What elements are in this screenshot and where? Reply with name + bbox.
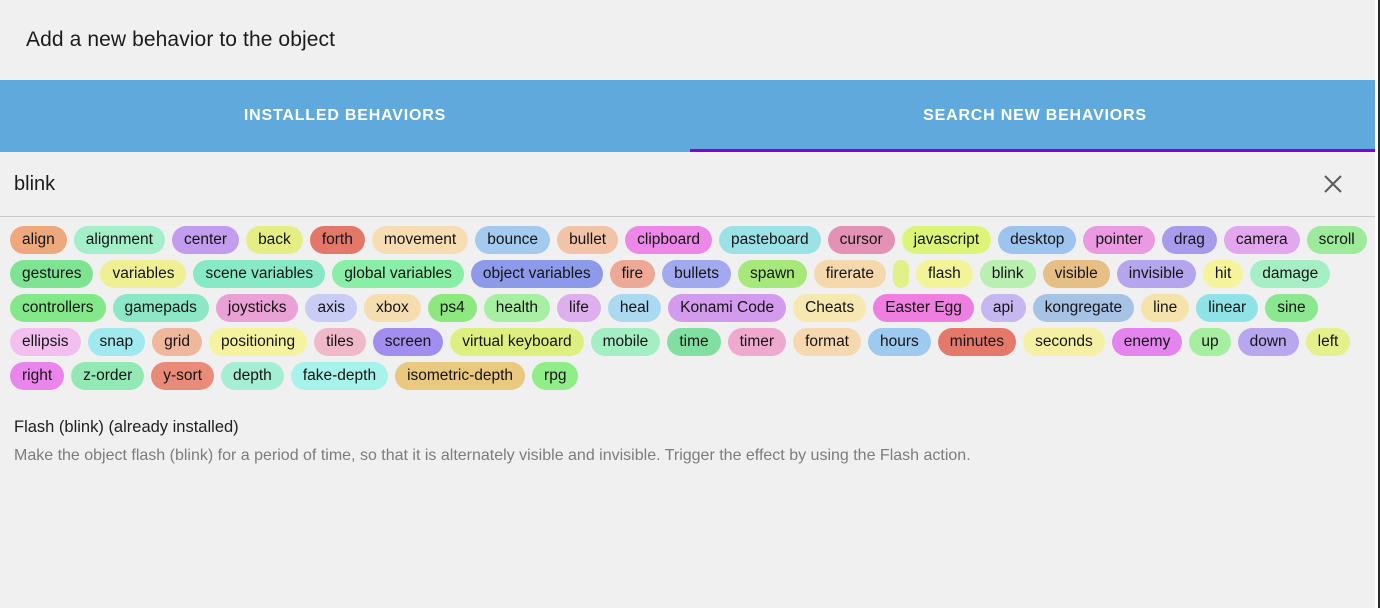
- tag-chip[interactable]: minutes: [938, 328, 1016, 356]
- close-icon[interactable]: [1318, 169, 1348, 199]
- tag-chip[interactable]: scene variables: [193, 260, 325, 288]
- tag-chip[interactable]: left: [1306, 328, 1351, 356]
- tag-cloud: alignalignmentcenterbackforthmovementbou…: [0, 217, 1380, 396]
- result-description: Make the object flash (blink) for a peri…: [14, 445, 1366, 467]
- page-title: Add a new behavior to the object: [26, 28, 335, 52]
- tag-chip[interactable]: health: [484, 294, 550, 322]
- tag-chip[interactable]: bounce: [475, 226, 550, 254]
- tag-chip[interactable]: right: [10, 362, 64, 390]
- tag-chip[interactable]: z-order: [71, 362, 144, 390]
- tag-chip[interactable]: joysticks: [216, 294, 299, 322]
- tag-chip[interactable]: fire: [610, 260, 656, 288]
- tag-chip[interactable]: xbox: [364, 294, 421, 322]
- tag-chip[interactable]: javascript: [902, 226, 991, 254]
- tag-chip[interactable]: axis: [305, 294, 357, 322]
- tag-chip[interactable]: depth: [221, 362, 284, 390]
- tag-chip[interactable]: back: [246, 226, 303, 254]
- tag-chip[interactable]: camera: [1224, 226, 1300, 254]
- tag-chip[interactable]: enemy: [1112, 328, 1183, 356]
- tag-chip[interactable]: [893, 260, 909, 288]
- tag-chip[interactable]: center: [172, 226, 239, 254]
- tag-chip[interactable]: pasteboard: [719, 226, 821, 254]
- tag-chip[interactable]: Easter Egg: [873, 294, 974, 322]
- tag-chip[interactable]: api: [981, 294, 1026, 322]
- results-list: Flash (blink) (already installed) Make t…: [0, 396, 1380, 608]
- tag-chip[interactable]: timer: [728, 328, 786, 356]
- tag-chip[interactable]: visible: [1043, 260, 1110, 288]
- tag-chip[interactable]: damage: [1250, 260, 1330, 288]
- tag-chip[interactable]: desktop: [998, 226, 1076, 254]
- tag-chip[interactable]: time: [667, 328, 720, 356]
- tag-chip[interactable]: linear: [1196, 294, 1258, 322]
- add-behavior-dialog: Add a new behavior to the object INSTALL…: [0, 0, 1380, 608]
- tag-chip[interactable]: controllers: [10, 294, 106, 322]
- tag-chip[interactable]: align: [10, 226, 67, 254]
- search-input[interactable]: [14, 169, 1318, 199]
- tag-chip[interactable]: variables: [100, 260, 186, 288]
- tag-chip[interactable]: invisible: [1117, 260, 1196, 288]
- tag-chip[interactable]: bullet: [557, 226, 618, 254]
- tag-chip[interactable]: snap: [88, 328, 146, 356]
- tag-chip[interactable]: grid: [152, 328, 202, 356]
- dialog-title-bar: Add a new behavior to the object: [0, 0, 1380, 80]
- tag-chip[interactable]: spawn: [738, 260, 807, 288]
- tag-chip[interactable]: scroll: [1307, 226, 1367, 254]
- tag-chip[interactable]: firerate: [814, 260, 886, 288]
- result-item[interactable]: Flash (blink) (already installed) Make t…: [14, 418, 1366, 467]
- tag-chip[interactable]: clipboard: [625, 226, 712, 254]
- tag-chip[interactable]: kongregate: [1033, 294, 1135, 322]
- tag-chip[interactable]: tiles: [314, 328, 366, 356]
- result-title: Flash (blink) (already installed): [14, 418, 1366, 437]
- tag-chip[interactable]: ps4: [428, 294, 477, 322]
- tag-chip[interactable]: sine: [1265, 294, 1317, 322]
- tag-chip[interactable]: Konami Code: [668, 294, 786, 322]
- tag-chip[interactable]: bullets: [662, 260, 731, 288]
- tag-chip[interactable]: screen: [373, 328, 444, 356]
- tag-chip[interactable]: global variables: [332, 260, 464, 288]
- tag-chip[interactable]: forth: [310, 226, 365, 254]
- tag-chip[interactable]: seconds: [1023, 328, 1105, 356]
- tag-chip[interactable]: down: [1238, 328, 1299, 356]
- search-bar: [0, 152, 1380, 217]
- tag-chip[interactable]: pointer: [1083, 226, 1154, 254]
- tag-chip[interactable]: Cheats: [793, 294, 866, 322]
- tag-chip[interactable]: flash: [916, 260, 973, 288]
- tab-installed-behaviors[interactable]: INSTALLED BEHAVIORS: [0, 80, 690, 152]
- tag-chip[interactable]: hit: [1203, 260, 1243, 288]
- tag-chip[interactable]: life: [557, 294, 601, 322]
- tag-chip[interactable]: format: [793, 328, 861, 356]
- tag-chip[interactable]: alignment: [74, 226, 165, 254]
- tag-chip[interactable]: ellipsis: [10, 328, 81, 356]
- tag-chip[interactable]: y-sort: [151, 362, 214, 390]
- tag-chip[interactable]: positioning: [209, 328, 307, 356]
- tag-chip[interactable]: cursor: [828, 226, 895, 254]
- tag-chip[interactable]: blink: [980, 260, 1036, 288]
- tag-chip[interactable]: gestures: [10, 260, 93, 288]
- tag-chip[interactable]: up: [1189, 328, 1230, 356]
- tag-chip[interactable]: drag: [1162, 226, 1217, 254]
- tab-bar: INSTALLED BEHAVIORS SEARCH NEW BEHAVIORS: [0, 80, 1380, 152]
- tag-chip[interactable]: object variables: [471, 260, 603, 288]
- tag-chip[interactable]: gamepads: [113, 294, 209, 322]
- tag-chip[interactable]: heal: [608, 294, 661, 322]
- tag-chip[interactable]: virtual keyboard: [450, 328, 583, 356]
- tag-chip[interactable]: line: [1141, 294, 1189, 322]
- tag-chip[interactable]: rpg: [532, 362, 578, 390]
- tag-chip[interactable]: isometric-depth: [395, 362, 525, 390]
- tag-chip[interactable]: fake-depth: [291, 362, 388, 390]
- tab-search-new-behaviors[interactable]: SEARCH NEW BEHAVIORS: [690, 80, 1380, 152]
- tag-chip[interactable]: hours: [868, 328, 931, 356]
- tag-chip[interactable]: mobile: [591, 328, 661, 356]
- tag-chip[interactable]: movement: [372, 226, 468, 254]
